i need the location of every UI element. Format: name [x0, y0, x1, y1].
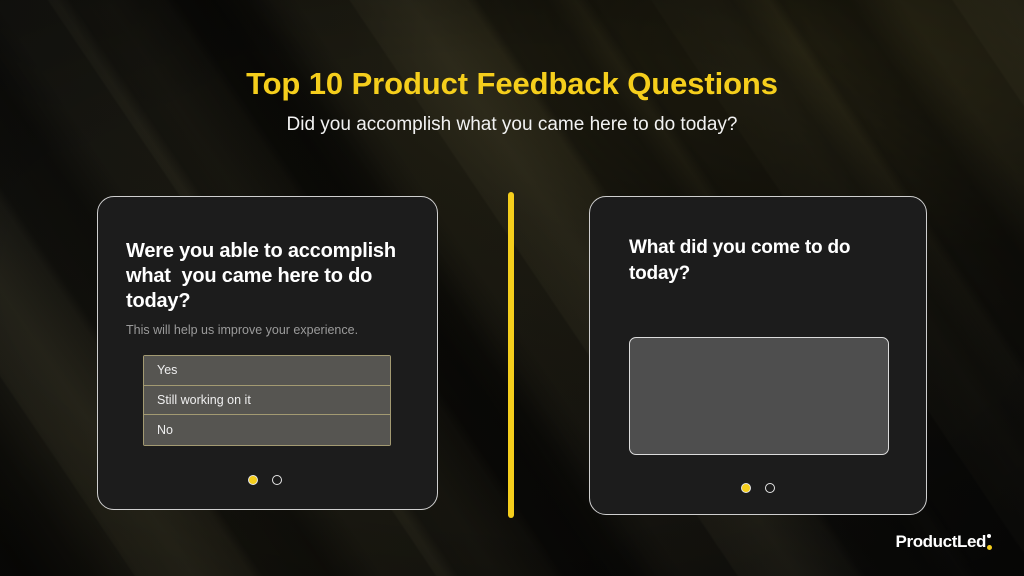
pagination-dots-right	[741, 483, 775, 493]
pagination-dot-2[interactable]	[272, 475, 282, 485]
question-heading: Were you able to accomplish what you cam…	[126, 239, 408, 314]
question-help-text: This will help us improve your experienc…	[126, 323, 358, 337]
logo-trademark-dot-icon	[987, 534, 991, 538]
answer-option-still-working[interactable]: Still working on it	[144, 386, 390, 416]
slide-stage: Top 10 Product Feedback Questions Did yo…	[0, 0, 1024, 576]
answer-option-yes[interactable]: Yes	[144, 356, 390, 386]
logo-registered-dot-icon	[987, 533, 996, 552]
question-card-right: What did you come to do today?	[589, 196, 927, 515]
question-heading: What did you come to do today?	[629, 235, 899, 287]
answer-option-list: Yes Still working on it No	[143, 355, 391, 446]
page-title: Top 10 Product Feedback Questions	[0, 66, 1024, 102]
answer-option-no[interactable]: No	[144, 415, 390, 445]
vertical-divider	[508, 192, 514, 518]
productled-logo: ProductLed	[896, 532, 996, 552]
question-card-left: Were you able to accomplish what you cam…	[97, 196, 438, 510]
logo-wordmark: ProductLed	[896, 532, 986, 552]
page-subtitle: Did you accomplish what you came here to…	[0, 114, 1024, 136]
pagination-dot-1-active[interactable]	[248, 475, 258, 485]
pagination-dot-2[interactable]	[765, 483, 775, 493]
answer-textarea[interactable]	[629, 337, 889, 455]
pagination-dots-left	[248, 475, 282, 485]
logo-accent-dot-icon	[987, 545, 992, 550]
pagination-dot-1-active[interactable]	[741, 483, 751, 493]
